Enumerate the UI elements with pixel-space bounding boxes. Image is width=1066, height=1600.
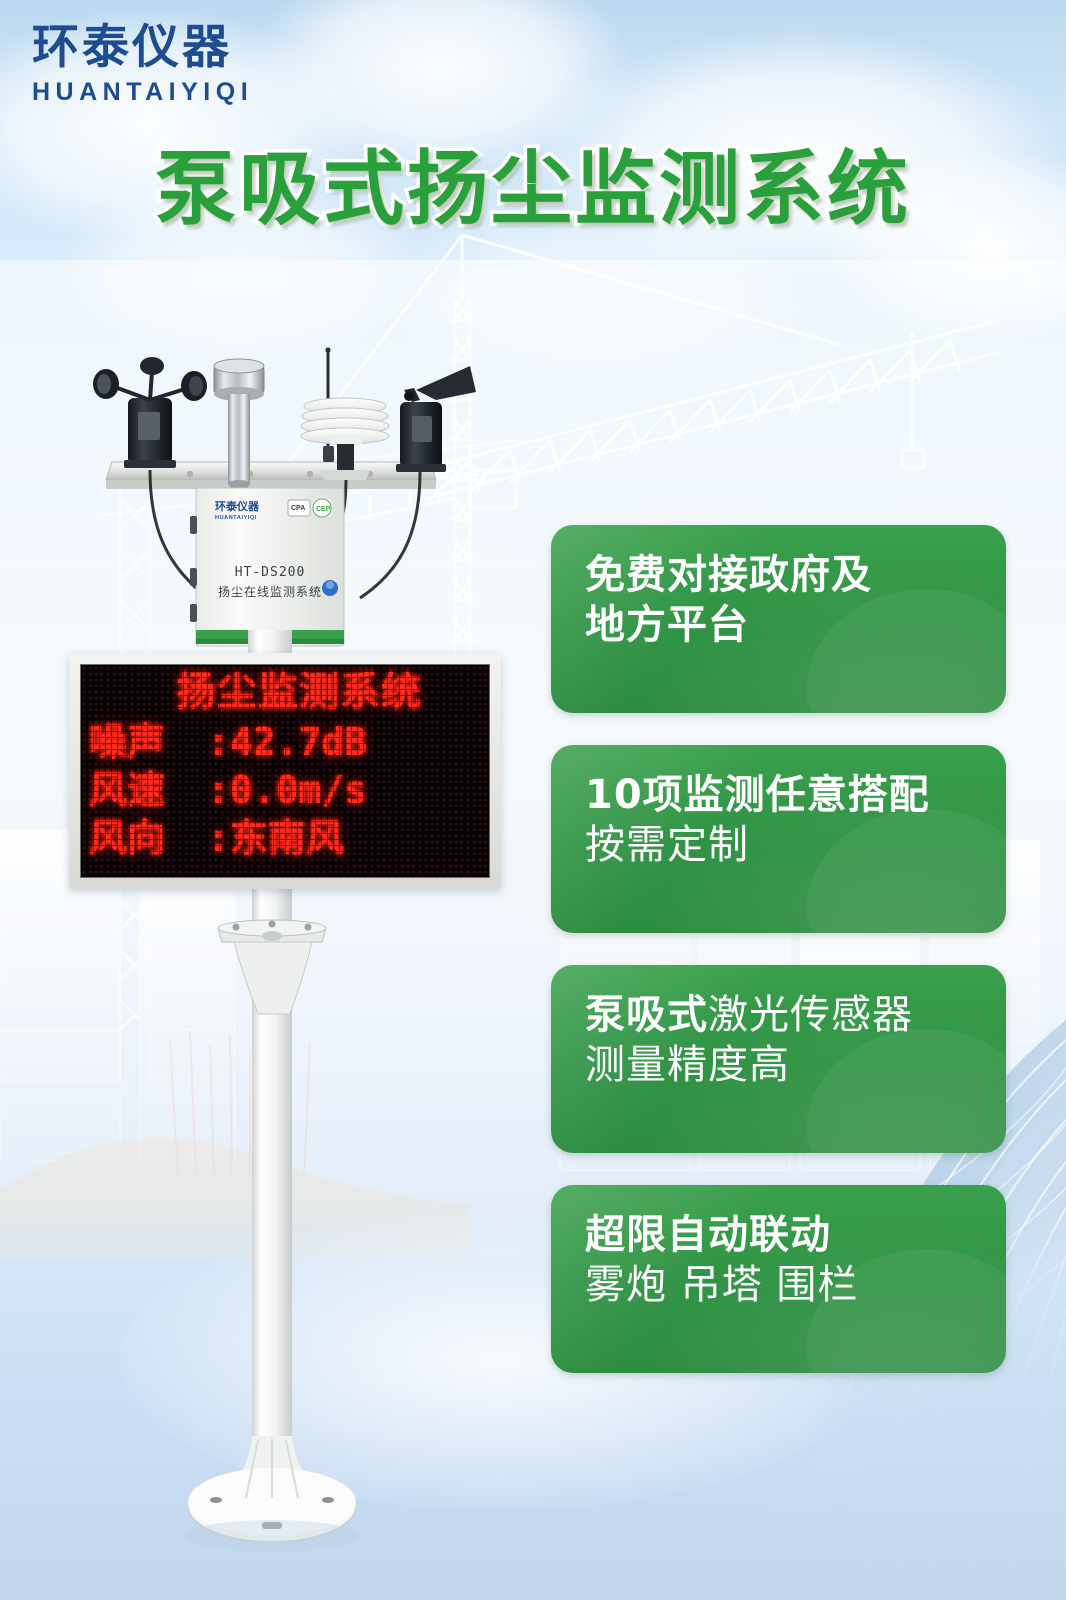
feature-card-1-line2: 地方平台: [585, 601, 976, 651]
svg-text:HT-DS200: HT-DS200: [235, 565, 306, 580]
feature-card-2-line1: 10项监测任意搭配: [585, 771, 976, 821]
svg-text:CEP: CEP: [316, 506, 331, 513]
led-screen: 扬尘监测系统 噪声:42.7dB 风速:0.0m/s 风向:东南风: [80, 664, 490, 878]
led-value-noise: 42.7dB: [230, 723, 367, 761]
led-label-winddirection: 风向: [89, 819, 207, 857]
sampling-inlet-tube: [214, 359, 264, 502]
brand-name-en: HUANTAIYIQI: [32, 80, 253, 105]
page-title: 泵吸式扬尘监测系统: [0, 150, 1066, 231]
radiation-shield-sensor: [301, 398, 389, 480]
controller-box: 环泰仪器 HUANTAIYIQI CPA CEP HT-DS200 扬尘在线监测…: [190, 488, 344, 646]
poster-canvas: 环泰仪器 HUANTAIYIQI 泵吸式扬尘监测系统: [0, 0, 1066, 1600]
svg-text:HUANTAIYIQI: HUANTAIYIQI: [215, 515, 257, 521]
feature-card-auto-linkage[interactable]: 超限自动联动 雾炮 吊塔 围栏: [551, 1185, 1006, 1373]
led-label-noise: 噪声: [89, 723, 207, 761]
feature-card-list: 免费对接政府及 地方平台 10项监测任意搭配 按需定制 泵吸式激光传感器 测量精…: [551, 525, 1006, 1405]
led-row-noise: 噪声:42.7dB: [89, 718, 481, 766]
feature-card-3-line2: 测量精度高: [585, 1041, 976, 1091]
svg-text:CPA: CPA: [291, 505, 305, 512]
led-display-board: 扬尘监测系统 噪声:42.7dB 风速:0.0m/s 风向:东南风: [69, 653, 501, 889]
feature-card-3-line1-rest: 激光传感器: [708, 992, 913, 1038]
feature-card-3-line1-bold: 泵吸式: [585, 992, 708, 1038]
led-sep-winddirection: :: [207, 816, 230, 860]
wind-vane-sensor: [396, 366, 476, 472]
led-value-windspeed: 0.0m/s: [230, 771, 367, 809]
brand-name-cn: 环泰仪器: [32, 24, 253, 71]
led-label-windspeed: 风速: [89, 771, 207, 809]
anemometer-sensor: [93, 357, 207, 468]
led-sep-windspeed: :: [207, 768, 230, 812]
svg-text:环泰仪器: 环泰仪器: [215, 499, 260, 513]
feature-card-3-line1: 泵吸式激光传感器: [585, 991, 976, 1041]
led-row-winddirection: 风向:东南风: [89, 814, 481, 862]
feature-card-4-line2: 雾炮 吊塔 围栏: [585, 1261, 976, 1311]
brand-logo: 环泰仪器 HUANTAIYIQI: [32, 24, 253, 105]
pole-mount-bracket: [218, 920, 326, 1014]
feature-card-government-platform[interactable]: 免费对接政府及 地方平台: [551, 525, 1006, 713]
svg-text:扬尘在线监测系统: 扬尘在线监测系统: [218, 584, 322, 599]
led-sep-noise: :: [207, 720, 230, 764]
feature-card-ten-items[interactable]: 10项监测任意搭配 按需定制: [551, 745, 1006, 933]
feature-card-1-line1: 免费对接政府及: [585, 551, 976, 601]
led-header-text: 扬尘监测系统: [89, 669, 481, 718]
led-row-windspeed: 风速:0.0m/s: [89, 766, 481, 814]
led-value-winddirection: 东南风: [230, 819, 344, 857]
feature-card-laser-sensor[interactable]: 泵吸式激光传感器 测量精度高: [551, 965, 1006, 1153]
feature-card-4-line1: 超限自动联动: [585, 1211, 976, 1261]
feature-card-2-line2: 按需定制: [585, 821, 976, 871]
